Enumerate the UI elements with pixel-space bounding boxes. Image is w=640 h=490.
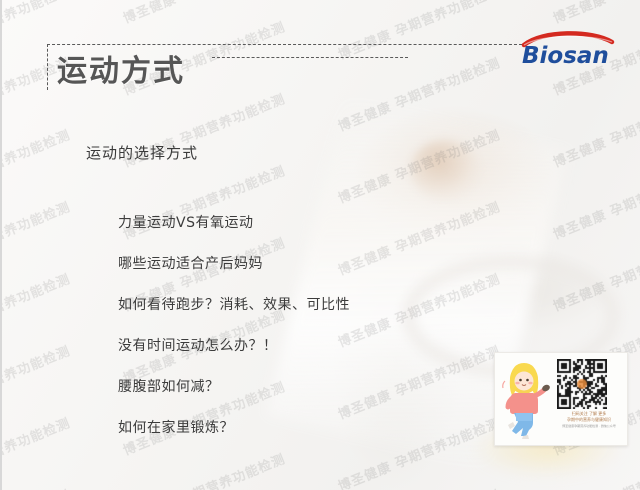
bullet-item: 腰腹部如何减？ <box>118 376 350 396</box>
dashed-left-border <box>47 44 48 90</box>
dashed-inner-rule <box>212 57 408 58</box>
logo-text: Biosan <box>522 43 609 68</box>
bullet-item: 哪些运动适合产后妈妈 <box>118 253 350 273</box>
qr-code[interactable] <box>557 359 607 409</box>
biosan-logo: Biosan <box>512 28 622 68</box>
promo-overlay[interactable]: 扫码关注 了解 更多 孕期中的营养与健康知识 博圣健康孕期营养功能检测 · 微信… <box>494 352 628 446</box>
bullet-item: 力量运动VS有氧运动 <box>118 212 350 232</box>
bullet-list: 力量运动VS有氧运动哪些运动适合产后妈妈如何看待跑步？消耗、效果、可比性没有时间… <box>118 212 350 458</box>
background-cap-shape <box>410 140 480 200</box>
promo-caption: 扫码关注 了解 更多 孕期中的营养与健康知识 博圣健康孕期营养功能检测 · 微信… <box>553 411 625 429</box>
bullet-item: 没有时间运动怎么办？！ <box>118 335 350 355</box>
presentation-slide: 博圣健康 孕期营养功能检测博圣健康 孕期营养功能检测博圣健康 孕期营养功能检测博… <box>0 0 640 490</box>
dashed-top-border <box>47 44 522 45</box>
bullet-item: 如何在家里锻炼？ <box>118 417 350 437</box>
page-title: 运动方式 <box>57 46 185 90</box>
slide-subtitle: 运动的选择方式 <box>86 142 198 163</box>
promo-line-3: 博圣健康孕期营养功能检测 · 微信公众号 <box>553 423 625 429</box>
title-frame: 运动方式 <box>47 44 522 92</box>
cartoon-girl-icon <box>499 357 553 441</box>
bullet-item: 如何看待跑步？消耗、效果、可比性 <box>118 294 350 314</box>
